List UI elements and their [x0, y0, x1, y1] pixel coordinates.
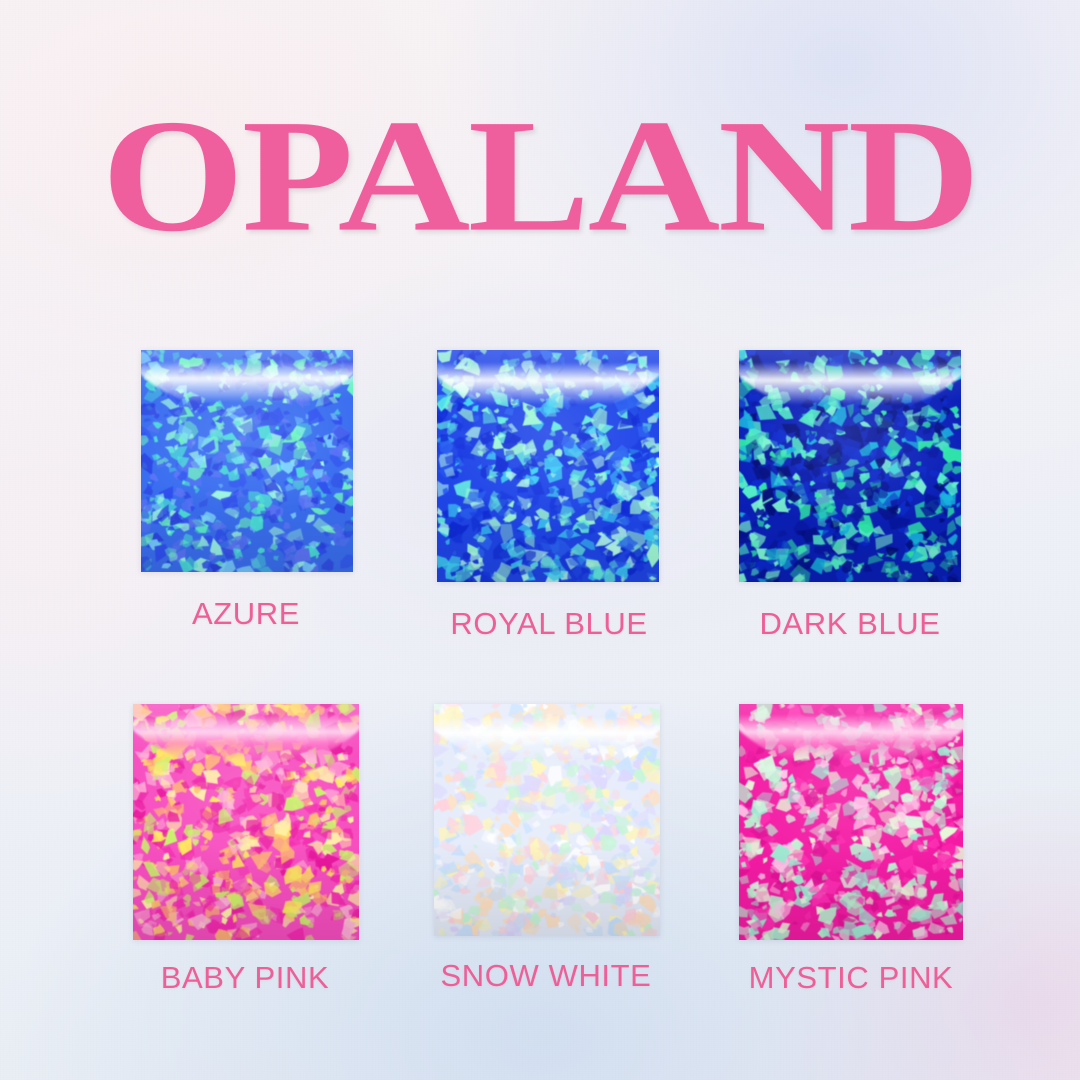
opal-flake-texture — [739, 350, 961, 582]
swatch-label-baby-pink: BABY PINK — [161, 960, 330, 996]
swatch-cell-mystic-pink[interactable]: MYSTIC PINK — [688, 704, 984, 996]
color-swatch-royal-blue[interactable] — [437, 350, 659, 582]
color-swatch-azure[interactable] — [141, 350, 353, 572]
swatch-label-dark-blue: DARK BLUE — [759, 606, 940, 642]
swatch-grid: AZURE ROYAL BLUE DARK BLUE BABY PINK — [96, 350, 984, 996]
swatch-cell-dark-blue[interactable]: DARK BLUE — [688, 350, 984, 642]
swatch-cell-snow-white[interactable]: SNOW WHITE — [392, 704, 688, 996]
opal-flake-texture — [434, 704, 660, 936]
swatch-cell-azure[interactable]: AZURE — [96, 350, 392, 642]
color-swatch-dark-blue[interactable] — [739, 350, 961, 582]
swatch-label-azure: AZURE — [192, 596, 300, 632]
title-container: OPALAND — [0, 96, 1080, 254]
swatch-cell-baby-pink[interactable]: BABY PINK — [96, 704, 392, 996]
opal-flake-texture — [133, 704, 359, 940]
swatch-label-snow-white: SNOW WHITE — [441, 958, 652, 994]
swatch-cell-royal-blue[interactable]: ROYAL BLUE — [392, 350, 688, 642]
opal-flake-texture — [141, 350, 353, 572]
color-swatch-baby-pink[interactable] — [133, 704, 359, 940]
opal-flake-texture — [437, 350, 659, 582]
swatch-label-mystic-pink: MYSTIC PINK — [749, 960, 954, 996]
brand-title: OPALAND — [102, 96, 978, 257]
swatch-label-royal-blue: ROYAL BLUE — [450, 606, 647, 642]
opaland-color-chart-poster: OPALAND AZURE ROYAL BLUE DARK BLUE — [0, 0, 1080, 1080]
color-swatch-mystic-pink[interactable] — [739, 704, 963, 940]
color-swatch-snow-white[interactable] — [434, 704, 660, 936]
opal-flake-texture — [739, 704, 963, 940]
